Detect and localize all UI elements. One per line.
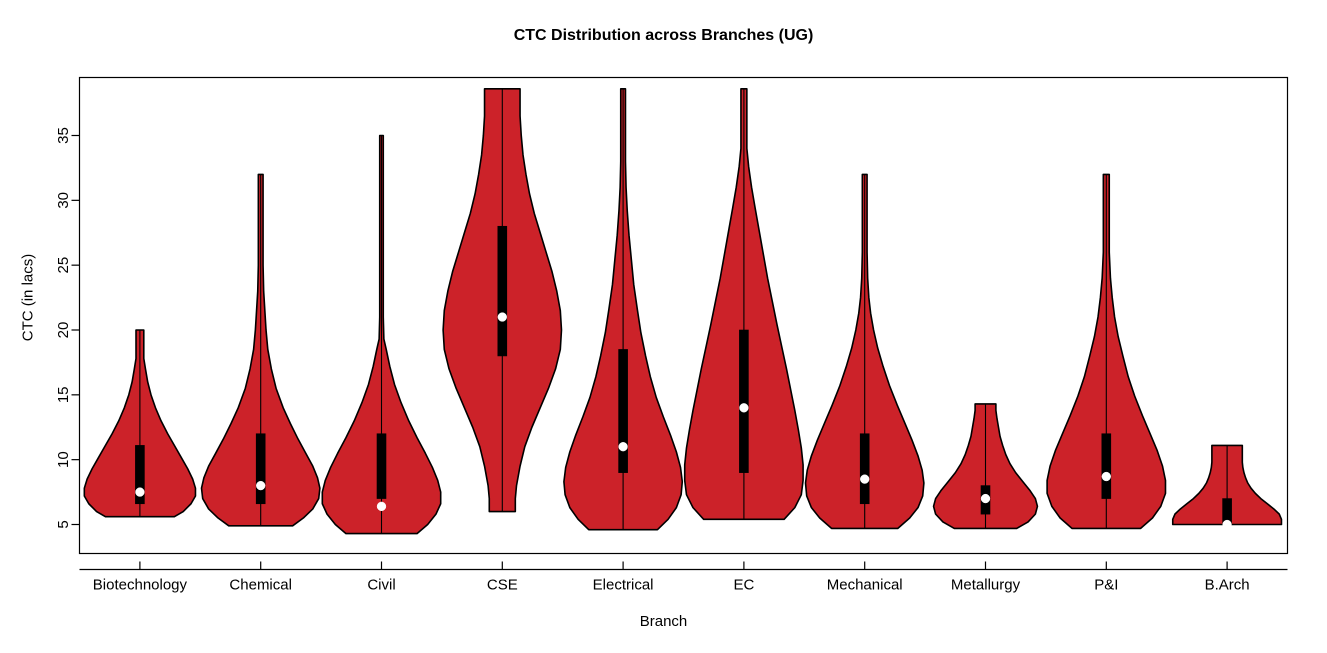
y-axis-tick-label: 15 bbox=[55, 386, 72, 403]
violin-median-dot bbox=[860, 475, 869, 484]
violin-iqr-box bbox=[619, 349, 628, 472]
violin-median-dot bbox=[981, 494, 990, 503]
violin-chart: CTC Distribution across Branches (UG) CT… bbox=[0, 0, 1327, 653]
violin-iqr-box bbox=[498, 226, 507, 356]
violin-median-dot bbox=[256, 481, 265, 490]
violin-iqr-box bbox=[860, 434, 869, 504]
x-axis-tick-label: B.Arch bbox=[1205, 577, 1250, 594]
y-axis-tick-label: 5 bbox=[55, 520, 72, 528]
violin-ec[interactable] bbox=[685, 89, 803, 519]
violin-electrical[interactable] bbox=[564, 89, 682, 530]
violin-median-dot bbox=[619, 442, 628, 451]
violin-iqr-box bbox=[256, 434, 265, 504]
violin-median-dot bbox=[740, 403, 749, 412]
x-axis-tick-label: Biotechnology bbox=[93, 577, 188, 594]
x-axis-tick-label: EC bbox=[733, 577, 754, 594]
violin-median-dot bbox=[136, 488, 145, 497]
violin-biotechnology[interactable] bbox=[84, 330, 195, 517]
x-axis-tick-label: CSE bbox=[487, 577, 518, 594]
violin-iqr-box bbox=[1102, 434, 1111, 499]
violin-chemical[interactable] bbox=[202, 174, 320, 525]
violin-iqr-box bbox=[739, 330, 748, 473]
violins-group bbox=[84, 89, 1281, 534]
x-axis-tick-label: Civil bbox=[367, 577, 395, 594]
violin-iqr-box bbox=[377, 434, 386, 499]
violin-b-arch[interactable] bbox=[1173, 445, 1282, 528]
violin-median-dot bbox=[1102, 472, 1111, 481]
x-axis-tick-label: Electrical bbox=[593, 577, 654, 594]
x-axis-tick-label: Mechanical bbox=[827, 577, 903, 594]
violin-p-i[interactable] bbox=[1047, 174, 1165, 528]
x-axis-tick-label: P&I bbox=[1094, 577, 1118, 594]
violin-mechanical[interactable] bbox=[806, 174, 924, 528]
x-axis-tick-label: Chemical bbox=[229, 577, 292, 594]
y-axis-tick-label: 25 bbox=[55, 257, 72, 274]
y-axis-tick-label: 35 bbox=[55, 127, 72, 144]
violin-metallurgy[interactable] bbox=[934, 404, 1038, 528]
plot-area: 5101520253035BiotechnologyChemicalCivilC… bbox=[0, 0, 1327, 653]
violin-median-dot bbox=[377, 502, 386, 511]
violin-median-dot bbox=[1223, 520, 1232, 529]
violin-median-dot bbox=[498, 313, 507, 322]
x-axis-tick-label: Metallurgy bbox=[951, 577, 1021, 594]
y-axis-tick-label: 20 bbox=[55, 322, 72, 339]
violin-cse[interactable] bbox=[443, 89, 561, 512]
violin-civil[interactable] bbox=[322, 136, 440, 534]
y-axis-tick-label: 10 bbox=[55, 451, 72, 468]
y-axis-tick-label: 30 bbox=[55, 192, 72, 209]
